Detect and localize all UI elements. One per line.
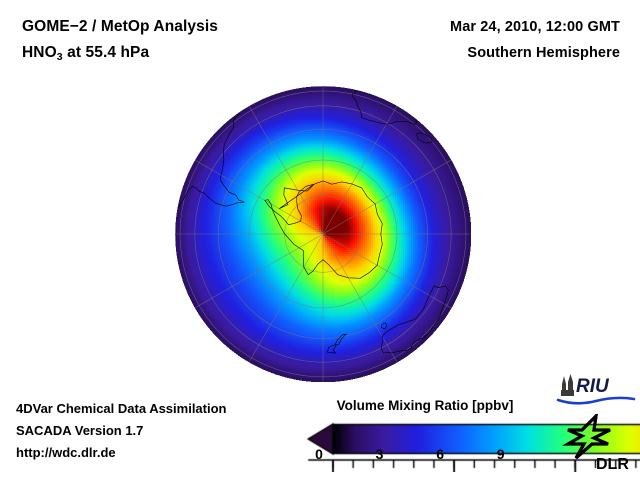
colorbar: Volume Mixing Ratio [ppbv] 0369 bbox=[300, 398, 550, 470]
colorbar-title: Volume Mixing Ratio [ppbv] bbox=[300, 398, 550, 413]
colorbar-tick-label: 3 bbox=[376, 446, 384, 462]
riu-logo: RIU bbox=[556, 372, 636, 406]
website-link[interactable]: http://wdc.dlr.de bbox=[16, 442, 227, 464]
dlr-mark-outline bbox=[568, 416, 610, 458]
dlr-logo: DLR bbox=[562, 414, 636, 472]
colorbar-tick-labels: 0369 bbox=[300, 446, 550, 466]
footer-credits: 4DVar Chemical Data Assimilation SACADA … bbox=[16, 398, 227, 464]
riu-wave-icon bbox=[558, 398, 634, 403]
globe-map bbox=[175, 86, 471, 382]
dlr-wordmark: DLR bbox=[596, 456, 629, 472]
page-title: GOME−2 / MetOp Analysis bbox=[22, 14, 218, 40]
colorbar-tick-label: 6 bbox=[436, 446, 444, 462]
timestamp-label: Mar 24, 2010, 12:00 GMT bbox=[450, 14, 620, 40]
level-label: at 55.4 hPa bbox=[63, 44, 150, 61]
hemisphere-label: Southern Hemisphere bbox=[450, 40, 620, 66]
colorbar-tick-label: 0 bbox=[315, 446, 323, 462]
header-left: GOME−2 / MetOp Analysis HNO3 at 55.4 hPa bbox=[22, 14, 218, 67]
version-label: SACADA Version 1.7 bbox=[16, 420, 227, 442]
species-label: HNO bbox=[22, 44, 57, 61]
riu-cathedral-icon bbox=[561, 374, 574, 396]
header-right: Mar 24, 2010, 12:00 GMT Southern Hemisph… bbox=[450, 14, 620, 66]
colorbar-tick-label: 9 bbox=[497, 446, 505, 462]
species-subscript: 3 bbox=[57, 51, 63, 63]
species-level-label: HNO3 at 55.4 hPa bbox=[22, 40, 218, 67]
method-label: 4DVar Chemical Data Assimilation bbox=[16, 398, 227, 420]
riu-logo-graphic: RIU bbox=[556, 372, 636, 406]
globe-canvas bbox=[175, 86, 471, 382]
dlr-logo-graphic: DLR bbox=[562, 414, 636, 472]
riu-wordmark: RIU bbox=[576, 376, 610, 397]
